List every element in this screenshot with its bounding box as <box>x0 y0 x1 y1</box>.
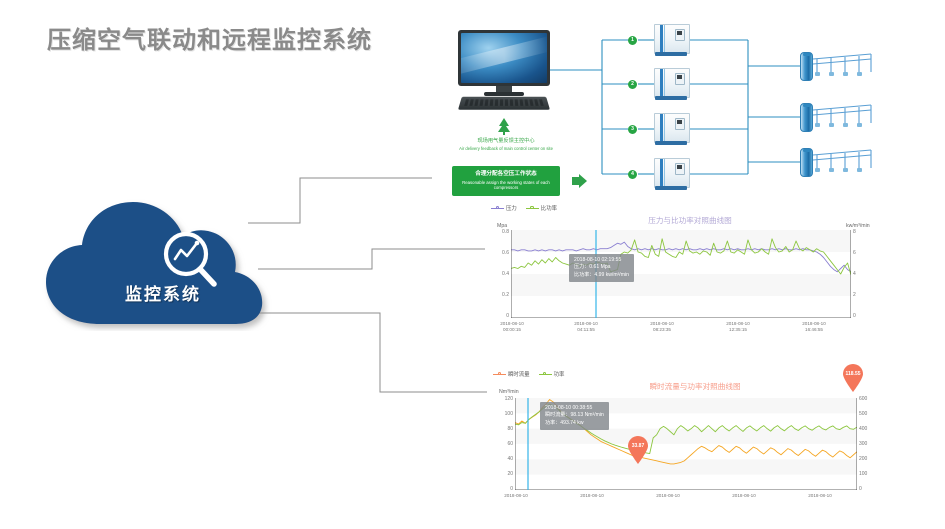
chart-flow-power[interactable]: 瞬时流量 功率 瞬时流量与功率对照曲线图 Nm³/min 120 100 80 … <box>487 368 887 508</box>
chart1-xtick: 2018-08-1008:23:35 <box>635 321 689 332</box>
chart1-xtick: 2018-08-1004:11:55 <box>559 321 613 332</box>
chart2-ytick: 0 <box>489 486 513 492</box>
chart1-tooltip: 2018-08-10 02:19:55 压力：0.61 Mpa 比功率：4.99… <box>569 254 634 282</box>
chart1-xtick: 2018-08-1012:35:15 <box>711 321 765 332</box>
chart2-marker-min-label: 33.87 <box>627 443 649 449</box>
chart2-y2tick: 300 <box>859 441 875 447</box>
chart1-tooltip-line1: 压力：0.61 Mpa <box>574 264 629 271</box>
chart1-legend-item-pressure[interactable]: 压力 <box>491 204 517 212</box>
tree-icon <box>496 118 512 136</box>
chart2-y2tick: 400 <box>859 426 875 432</box>
chart2-xtick: 2018-08-10 <box>717 493 771 499</box>
chart1-ytick: 0.4 <box>487 271 509 277</box>
chart1-xtick: 2018-08-1016:46:55 <box>787 321 841 332</box>
node-1[interactable]: 1 <box>628 36 637 45</box>
green-arrow-icon <box>572 174 588 188</box>
chart1-xtick: 2018-08-1000:00:15 <box>485 321 539 332</box>
chart1-y2tick: 0 <box>853 313 867 319</box>
legend-marker-icon <box>493 371 506 377</box>
chart1-legend-label: 比功率 <box>541 204 557 212</box>
slide-canvas: 压缩空气联动和远程监控系统 监控系统 <box>0 0 945 529</box>
chart2-ytick: 100 <box>489 411 513 417</box>
page-title: 压缩空气联动和远程监控系统 <box>47 20 372 55</box>
chart2-y2tick: 500 <box>859 411 875 417</box>
chart2-marker-min[interactable]: 33.87 <box>627 436 649 464</box>
compressor-unit[interactable] <box>654 24 688 56</box>
allocation-callout: 合理分配各空压工作状态 Reasonable assign the workin… <box>452 166 560 196</box>
allocation-callout-cn: 合理分配各空压工作状态 <box>475 171 537 178</box>
chart2-ytick: 60 <box>489 441 513 447</box>
chart1-tooltip-line2: 比功率：4.99 kw/m³/min <box>574 272 629 279</box>
chart2-legend-item-flow[interactable]: 瞬时流量 <box>493 370 530 378</box>
diagram-caption-en: Air delivery feedback of main control ce… <box>446 146 566 151</box>
chart2-ytick: 40 <box>489 456 513 462</box>
chart2-xtick: 2018-08-10 <box>489 493 543 499</box>
legend-marker-icon <box>491 205 504 211</box>
chart1-ytick: 0 <box>487 313 509 319</box>
air-tank-group[interactable] <box>800 146 876 178</box>
chart2-xtick: 2018-08-10 <box>641 493 695 499</box>
chart2-marker-max[interactable]: 118.55 <box>842 364 864 392</box>
chart2-legend-label: 瞬时流量 <box>508 370 530 378</box>
air-tank-group[interactable] <box>800 101 876 133</box>
chart2-marker-max-label: 118.55 <box>842 371 864 377</box>
chart1-title: 压力与比功率对照曲线图 <box>605 215 775 226</box>
cloud-label: 监控系统 <box>38 280 288 305</box>
node-2[interactable]: 2 <box>628 80 637 89</box>
chart2-ytick: 20 <box>489 471 513 477</box>
node-4[interactable]: 4 <box>628 170 637 179</box>
chart1-plot[interactable] <box>511 230 851 318</box>
chart2-title: 瞬时流量与功率对照曲线图 <box>605 381 785 392</box>
air-tank-group[interactable] <box>800 50 876 82</box>
desktop-computer-icon <box>458 30 550 112</box>
chart2-y2tick: 100 <box>859 471 875 477</box>
chart1-y2tick: 8 <box>853 229 867 235</box>
chart2-xtick: 2018-08-10 <box>565 493 619 499</box>
chart2-y2tick: 600 <box>859 396 875 402</box>
chart2-tooltip-line2: 功率：493.74 kw <box>545 420 604 427</box>
chart2-legend[interactable]: 瞬时流量 功率 <box>493 370 564 378</box>
chart2-xtick: 2018-08-10 <box>793 493 847 499</box>
chart1-ytick: 0.2 <box>487 292 509 298</box>
chart1-ytick: 0.8 <box>487 229 509 235</box>
chart1-y2tick: 2 <box>853 292 867 298</box>
chart2-legend-label: 功率 <box>554 370 565 378</box>
allocation-callout-en: Reasonable assign the working states of … <box>452 180 560 190</box>
chart1-legend-item-specific-power[interactable]: 比功率 <box>526 204 557 212</box>
chart2-y2tick: 0 <box>859 486 875 492</box>
chart2-tooltip-line1: 瞬时流量：98.13 Nm³/min <box>545 412 604 419</box>
compressor-unit[interactable] <box>654 113 688 145</box>
monitoring-cloud[interactable]: 监控系统 <box>38 196 288 331</box>
chart1-y2tick: 6 <box>853 250 867 256</box>
chart2-ytick: 80 <box>489 426 513 432</box>
chart-pressure-power[interactable]: 压力 比功率 压力与比功率对照曲线图 Mpa kw/m³/min 0.8 0.6… <box>485 202 885 337</box>
legend-marker-icon <box>526 205 539 211</box>
chart1-legend-label: 压力 <box>506 204 517 212</box>
legend-marker-icon <box>539 371 552 377</box>
diagram-caption: 现场用气量反馈主控中心 Air delivery feedback of mai… <box>446 138 566 151</box>
chart1-y2tick: 4 <box>853 271 867 277</box>
chart2-ytick: 120 <box>489 396 513 402</box>
chart1-legend[interactable]: 压力 比功率 <box>491 204 557 212</box>
compressor-unit[interactable] <box>654 158 688 190</box>
chart2-tooltip: 2018-08-10 00:38:55 瞬时流量：98.13 Nm³/min 功… <box>540 402 609 430</box>
chart1-ytick: 0.6 <box>487 250 509 256</box>
chart2-y-unit: Nm³/min <box>499 389 519 395</box>
chart2-legend-item-power[interactable]: 功率 <box>539 370 565 378</box>
node-3[interactable]: 3 <box>628 125 637 134</box>
chart2-y2tick: 200 <box>859 456 875 462</box>
diagram-caption-cn: 现场用气量反馈主控中心 <box>446 138 566 145</box>
compressor-unit[interactable] <box>654 68 688 100</box>
process-diagram: 现场用气量反馈主控中心 Air delivery feedback of mai… <box>432 22 937 200</box>
